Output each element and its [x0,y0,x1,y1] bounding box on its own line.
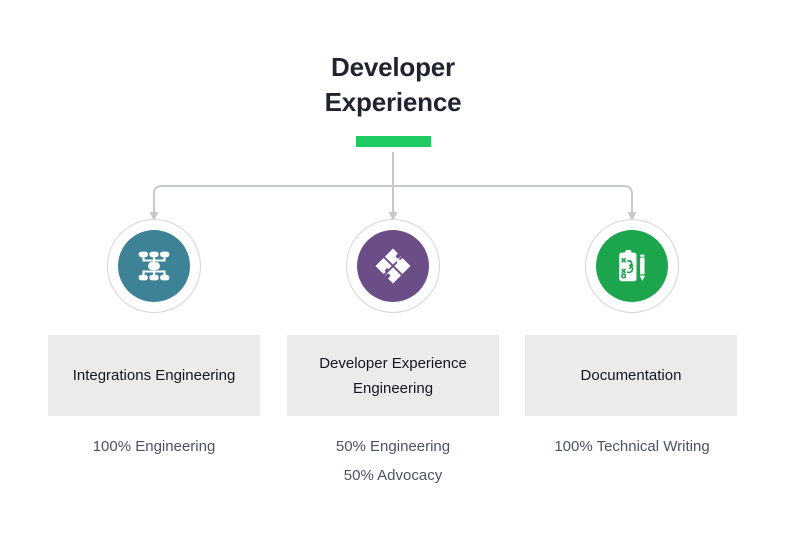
caption-documentation: 100% Technical Writing [512,432,752,461]
clipboard-strategy-pencil-icon [613,247,651,285]
label-box-integrations-engineering: Integrations Engineering [48,335,260,416]
caption-integrations-engineering: 100% Engineering [34,432,274,461]
branch-node-developer-experience-engineering[interactable] [346,219,440,313]
branch-node-documentation[interactable] [585,219,679,313]
icon-disc [357,230,429,302]
network-nodes-icon [135,247,173,285]
branch-node-integrations-engineering[interactable] [107,219,201,313]
label-box-developer-experience-engineering: Developer Experience Engineering [287,335,499,416]
page-title: Developer Experience [243,50,543,120]
caption-developer-experience-engineering: 50% Engineering 50% Advocacy [273,432,513,490]
puzzle-pieces-icon [374,247,412,285]
label-text: Integrations Engineering [73,363,236,388]
icon-disc [596,230,668,302]
org-chart-diagram: Developer Experience [0,0,800,541]
title-text: Developer Experience [243,50,543,120]
label-box-documentation: Documentation [525,335,737,416]
label-text: Developer Experience Engineering [319,351,467,401]
title-accent-rule [356,136,431,147]
label-text: Documentation [581,363,682,388]
icon-disc [118,230,190,302]
